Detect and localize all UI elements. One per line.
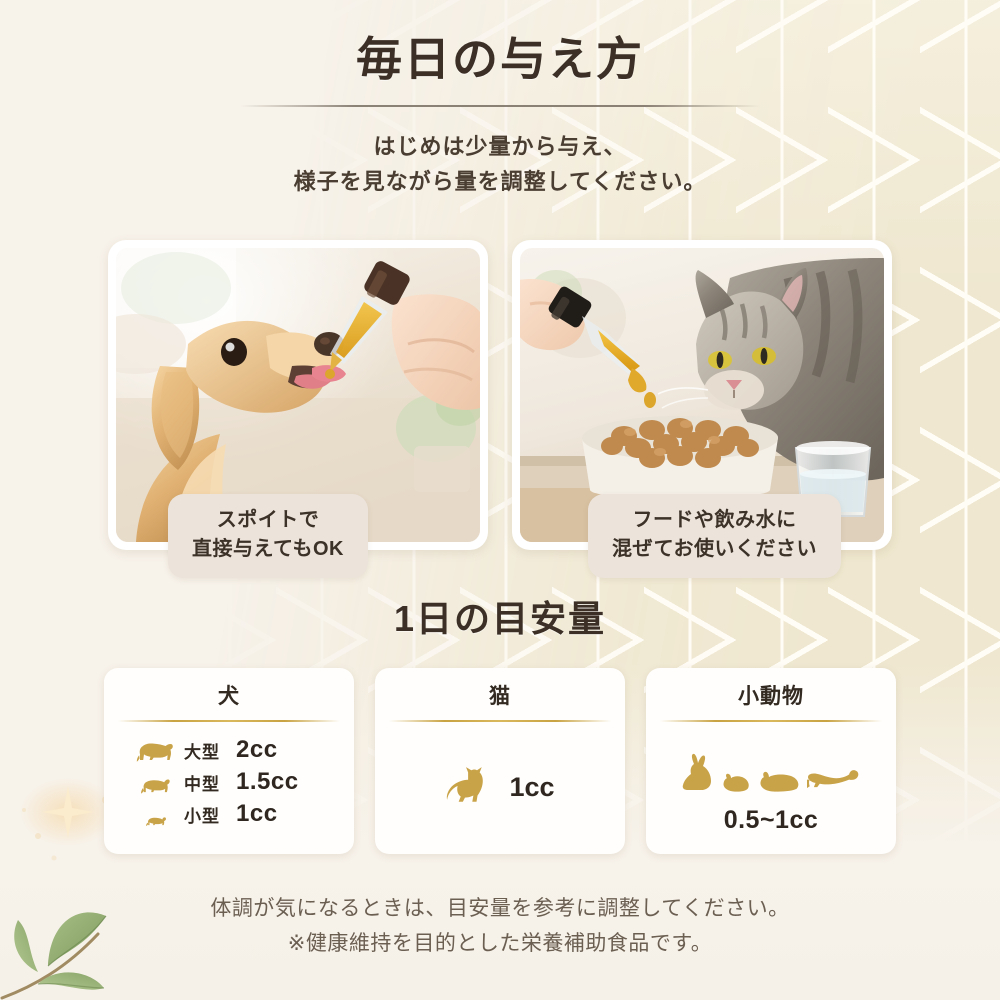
- dog-photo-caption: スポイトで 直接与えてもOK: [168, 494, 368, 578]
- small-dog-icon: [134, 799, 178, 829]
- dosage-card-cat-divider: [389, 720, 611, 722]
- dosage-card-small-animals: 小動物 0.5~1: [646, 668, 896, 854]
- page-title: 毎日の与え方: [0, 34, 1000, 85]
- photo-row: スポイトで 直接与えてもOK: [108, 240, 892, 550]
- footer-note: 体調が気になるときは、目安量を参考に調整してください。 ※健康維持を目的とした栄…: [0, 892, 1000, 961]
- cat-caption-line-2: 混ぜてお使いください: [612, 535, 817, 564]
- dosage-card-small-animals-title: 小動物: [646, 680, 896, 720]
- large-dog-size-label: 大型: [184, 738, 230, 763]
- dog-caption-line-2: 直接与えてもOK: [192, 535, 344, 564]
- cat-icon: [445, 765, 487, 810]
- dosage-card-dog-divider: [118, 720, 340, 722]
- dosage-card-cat: 猫 1cc: [375, 668, 625, 854]
- cat-caption-line-1: フードや飲み水に: [612, 506, 817, 535]
- ferret-icon: [807, 767, 861, 798]
- dosage-card-dog: 犬 大型 2cc 中型 1.5cc: [104, 668, 354, 854]
- dosage-row-large-dog: 大型 2cc: [104, 734, 354, 766]
- dosage-card-cat-title: 猫: [375, 680, 625, 720]
- medium-dog-amount: 1.5cc: [236, 768, 299, 796]
- dosage-row-small-dog: 小型 1cc: [104, 798, 354, 830]
- large-dog-amount: 2cc: [236, 736, 278, 764]
- small-dog-size-label: 小型: [184, 802, 230, 827]
- subtitle-line-2: 様子を見ながら量を調整してください。: [0, 164, 1000, 199]
- large-dog-icon: [134, 735, 178, 765]
- medium-dog-icon: [134, 767, 178, 797]
- dosage-card-row: 犬 大型 2cc 中型 1.5cc: [104, 668, 896, 854]
- small-dog-amount: 1cc: [236, 800, 278, 828]
- cat-amount: 1cc: [509, 772, 554, 803]
- dog-caption-line-1: スポイトで: [192, 506, 344, 535]
- footer-line-1: 体調が気になるときは、目安量を参考に調整してください。: [0, 892, 1000, 927]
- dosage-row-medium-dog: 中型 1.5cc: [104, 766, 354, 798]
- guinea-pig-icon: [757, 767, 801, 798]
- dosage-section-heading: 1日の目安量: [0, 590, 1000, 642]
- dosage-card-dog-title: 犬: [104, 680, 354, 720]
- dosage-card-dog-body: 大型 2cc 中型 1.5cc 小型 1cc: [104, 732, 354, 830]
- page-subtitle: はじめは少量から与え、 様子を見ながら量を調整してください。: [0, 129, 1000, 199]
- hamster-icon: [721, 769, 751, 798]
- cat-photo-caption: フードや飲み水に 混ぜてお使いください: [588, 494, 841, 578]
- small-animals-amount: 0.5~1cc: [646, 806, 896, 835]
- header: 毎日の与え方 はじめは少量から与え、 様子を見ながら量を調整してください。: [0, 34, 1000, 199]
- subtitle-line-1: はじめは少量から与え、: [0, 129, 1000, 164]
- rabbit-icon: [681, 753, 715, 798]
- dog-dropper-photo-card: スポイトで 直接与えてもOK: [108, 240, 488, 550]
- footer-line-2: ※健康維持を目的とした栄養補助食品です。: [0, 927, 1000, 962]
- dosage-card-small-animals-divider: [660, 720, 882, 722]
- medium-dog-size-label: 中型: [184, 770, 230, 795]
- dosage-card-cat-body: 1cc: [375, 732, 625, 842]
- title-divider: [240, 105, 760, 107]
- small-animal-icon-group: [646, 732, 896, 798]
- cat-food-photo-card: フードや飲み水に 混ぜてお使いください: [512, 240, 892, 550]
